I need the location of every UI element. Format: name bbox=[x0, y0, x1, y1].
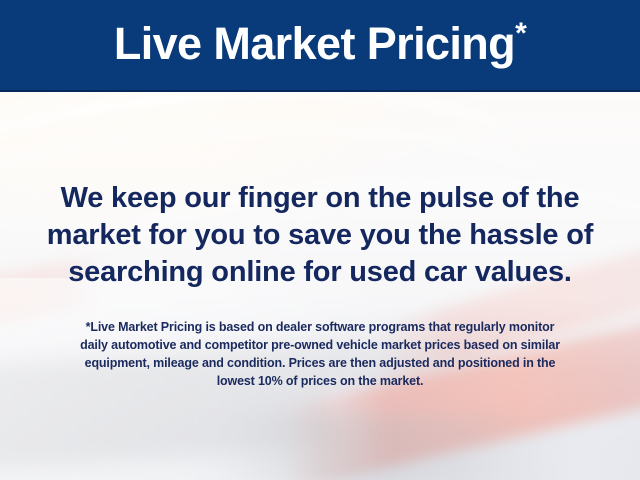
page-title-asterisk: * bbox=[515, 17, 526, 50]
live-market-pricing-slide: Live Market Pricing* We keep our finger … bbox=[0, 0, 640, 480]
headline-line: market for you to save you the hassle of bbox=[22, 217, 618, 254]
page-title-text: Live Market Pricing bbox=[114, 18, 515, 69]
disclaimer-line: lowest 10% of prices on the market. bbox=[26, 372, 614, 390]
header-banner: Live Market Pricing* bbox=[0, 0, 640, 92]
content-area: We keep our finger on the pulse of the m… bbox=[0, 92, 640, 480]
disclaimer-line: daily automotive and competitor pre-owne… bbox=[26, 336, 614, 354]
headline: We keep our finger on the pulse of the m… bbox=[0, 180, 640, 291]
headline-line: searching online for used car values. bbox=[22, 254, 618, 291]
disclaimer-text: *Live Market Pricing is based on dealer … bbox=[0, 318, 640, 390]
page-title: Live Market Pricing* bbox=[114, 21, 526, 69]
disclaimer-line: equipment, mileage and condition. Prices… bbox=[26, 354, 614, 372]
disclaimer-line: *Live Market Pricing is based on dealer … bbox=[26, 318, 614, 336]
headline-line: We keep our finger on the pulse of the bbox=[22, 180, 618, 217]
